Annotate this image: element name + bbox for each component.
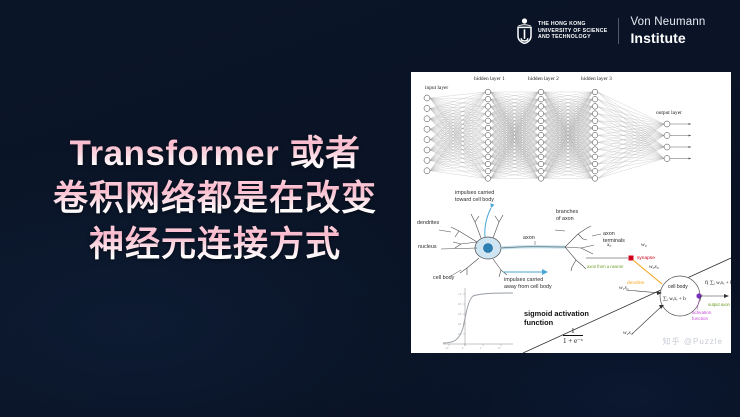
svg-text:0.6: 0.6 bbox=[458, 313, 462, 316]
label-axon: axon bbox=[523, 235, 535, 241]
von-neumann-line: Von Neumann bbox=[630, 17, 705, 29]
sigmoid-formula-numerator: 1 bbox=[563, 327, 583, 336]
institute-line: Institute bbox=[630, 31, 705, 45]
label-dendrites: dendrites bbox=[417, 220, 439, 226]
label-input-layer: input layer bbox=[425, 85, 448, 91]
title-line-2: 卷积网络都是在改变 bbox=[53, 176, 377, 222]
brand-divider bbox=[618, 18, 619, 44]
label-w0: w₀ bbox=[641, 242, 647, 248]
label-impulses-toward-line2: toward cell body bbox=[455, 197, 494, 203]
label-output-axon: output axon bbox=[708, 302, 730, 307]
label-axon-terminals-line1: axon bbox=[603, 231, 615, 237]
hkust-line-3: AND TECHNOLOGY bbox=[538, 34, 607, 41]
label-output-expression: f( ∑ᵢ wᵢxᵢ + b ) bbox=[705, 280, 731, 286]
label-nucleus: nucleus bbox=[418, 244, 437, 250]
zhihu-watermark: 知乎 @Puzzle bbox=[663, 336, 723, 347]
label-f-symbol: f bbox=[700, 295, 702, 301]
slide-title: Transformer 或者 卷积网络都是在改变 神经元连接方式 bbox=[30, 132, 400, 268]
label-w0x0: w₀x₀ bbox=[649, 264, 659, 270]
hkust-shield-icon bbox=[516, 18, 533, 44]
svg-text:5: 5 bbox=[480, 347, 482, 350]
label-w1x1: w₁x₁ bbox=[619, 285, 629, 291]
svg-text:0: 0 bbox=[462, 347, 464, 350]
neural-network-figure-panel: input layer hidden layer 1 hidden layer … bbox=[411, 72, 731, 353]
svg-text:10: 10 bbox=[498, 347, 501, 350]
hkust-line-1: THE HONG KONG bbox=[538, 21, 607, 28]
sigmoid-title-line2: function bbox=[524, 318, 553, 327]
label-sum-expression: ∑ᵢ wᵢxᵢ + b bbox=[663, 296, 686, 302]
hkust-logo: THE HONG KONG UNIVERSITY OF SCIENCE AND … bbox=[516, 18, 607, 44]
label-dendrite: dendrite bbox=[627, 281, 644, 286]
hkust-line-2: UNIVERSITY OF SCIENCE bbox=[538, 28, 607, 35]
label-w2x2: w₂x₂ bbox=[623, 330, 633, 336]
label-hidden-layer-1: hidden layer 1 bbox=[474, 76, 505, 82]
label-impulses-toward-line1: impulses carried bbox=[455, 190, 494, 196]
label-hidden-layer-2: hidden layer 2 bbox=[528, 76, 559, 82]
label-cell-body: cell body bbox=[433, 275, 454, 281]
von-neumann-institute-logo: Von Neumann Institute bbox=[630, 17, 705, 45]
sigmoid-title-line1: sigmoid activation bbox=[524, 309, 589, 318]
label-branches-line2: of axon bbox=[556, 216, 574, 222]
mlp-diagram bbox=[411, 72, 731, 190]
label-axon-from-neuron: axon from a neuron bbox=[587, 264, 623, 269]
title-line-3: 神经元连接方式 bbox=[89, 222, 341, 268]
label-x0: x₀ bbox=[607, 242, 611, 248]
hkust-wordmark: THE HONG KONG UNIVERSITY OF SCIENCE AND … bbox=[538, 21, 607, 41]
svg-text:1.0: 1.0 bbox=[458, 293, 462, 296]
label-synapse: synapse bbox=[637, 256, 655, 261]
sigmoid-formula-denominator: 1 + e⁻ˣ bbox=[563, 336, 583, 345]
label-hidden-layer-3: hidden layer 3 bbox=[581, 76, 612, 82]
svg-text:0.4: 0.4 bbox=[458, 323, 462, 326]
header-brandbar: THE HONG KONG UNIVERSITY OF SCIENCE AND … bbox=[516, 12, 728, 50]
svg-text:0.8: 0.8 bbox=[458, 303, 462, 306]
label-branches-line1: branches bbox=[556, 209, 578, 215]
label-an-cell-body: cell body bbox=[668, 284, 688, 290]
slide-canvas: THE HONG KONG UNIVERSITY OF SCIENCE AND … bbox=[0, 0, 740, 417]
artificial-neuron-diagram bbox=[584, 240, 729, 345]
label-output-layer: output layer bbox=[656, 110, 682, 116]
figure-inner: input layer hidden layer 1 hidden layer … bbox=[411, 72, 731, 353]
sigmoid-formula: 1 1 + e⁻ˣ bbox=[563, 327, 583, 345]
label-impulses-away-line1: impulses carried bbox=[504, 277, 543, 283]
label-activation-line2: function bbox=[692, 316, 708, 321]
svg-text:-10: -10 bbox=[445, 347, 449, 350]
label-activation-line1: activation bbox=[692, 310, 711, 315]
sigmoid-plot: 1.00.8 0.60.4 0.2 -100 510 bbox=[439, 284, 517, 350]
title-line-1: Transformer 或者 bbox=[70, 132, 361, 176]
